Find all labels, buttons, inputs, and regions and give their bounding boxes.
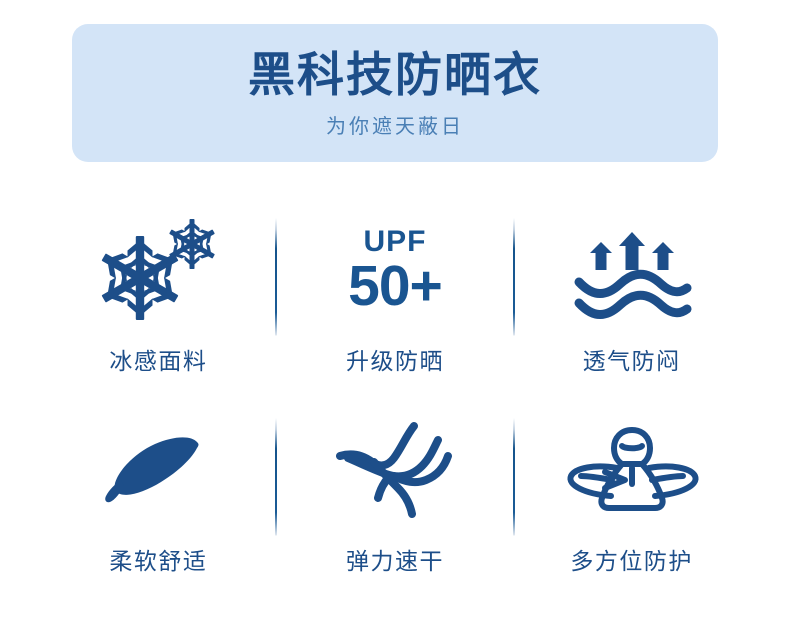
feature-grid: 冰感面料 UPF 50+ 升级防晒 [40,196,750,596]
feature-label: 多方位防护 [570,542,693,576]
column-divider [275,418,277,536]
leaf-icon [83,414,233,526]
feature-item-all-round-protection[interactable]: 多方位防护 [513,396,750,596]
feature-item-upf-rating[interactable]: UPF 50+ 升级防晒 [277,196,514,396]
upf-value: 50+ [348,259,442,313]
hooded-figure-protection-icon [557,414,707,526]
page-title: 黑科技防晒衣 [248,49,542,101]
column-divider [275,218,277,336]
feature-item-stretch-quickdry[interactable]: 弹力速干 [277,396,514,596]
feature-label: 弹力速干 [346,542,444,576]
snowflake-icon [83,214,233,326]
breathable-airflow-icon [557,214,707,326]
page-subtitle: 为你遮天蔽日 [326,117,464,137]
feature-item-cooling-fabric[interactable]: 冰感面料 [40,196,277,396]
feature-label: 透气防闷 [583,342,681,376]
upf-rating-icon: UPF 50+ [320,214,470,326]
feature-item-soft-comfort[interactable]: 柔软舒适 [40,396,277,596]
feature-item-breathable[interactable]: 透气防闷 [513,196,750,396]
feature-label: 冰感面料 [109,342,207,376]
header-banner: 黑科技防晒衣 为你遮天蔽日 [72,24,718,162]
feature-label: 柔软舒适 [109,542,207,576]
feature-label: 升级防晒 [346,342,444,376]
upf-label: UPF [363,227,426,257]
elastic-fibers-icon [320,414,470,526]
